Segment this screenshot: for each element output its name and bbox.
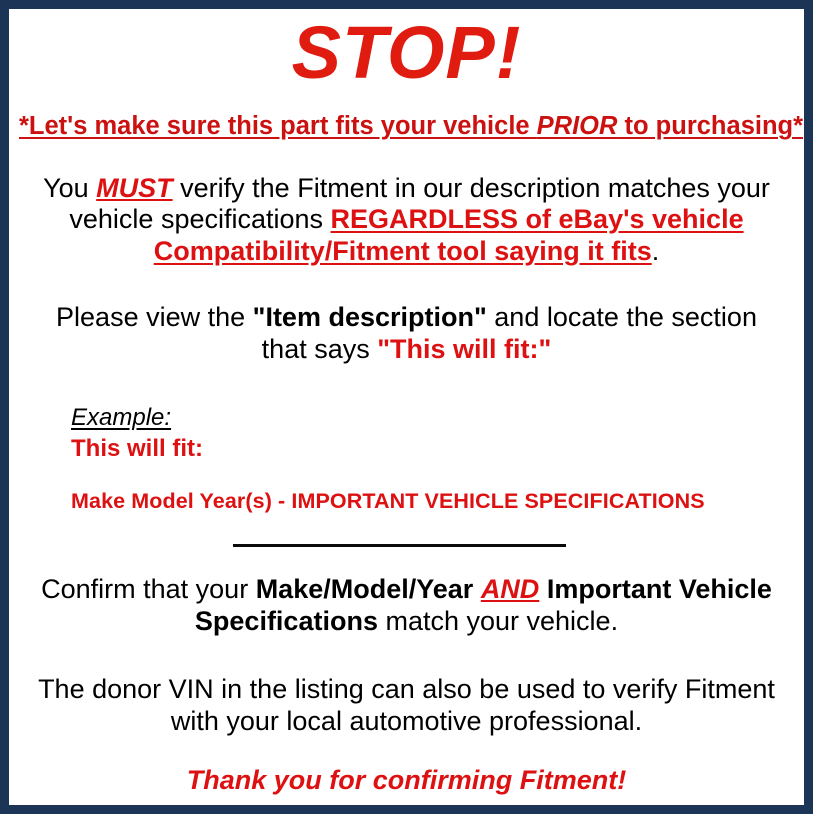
example-spec-line: Make Model Year(s) - IMPORTANT VEHICLE S…	[71, 489, 794, 515]
example-will-fit-heading: This will fit:	[71, 433, 794, 464]
confirm-paragraph: Confirm that your Make/Model/Year AND Im…	[19, 574, 794, 638]
subtitle-banner: *Let's make sure this part fits your veh…	[19, 112, 794, 140]
vin-paragraph: The donor VIN in the listing can also be…	[19, 674, 794, 738]
and-keyword: AND	[481, 574, 540, 604]
must-part1: You	[43, 173, 96, 203]
confirm-part1: Confirm that your	[41, 574, 256, 604]
item-description-quote: "Item description"	[253, 302, 487, 332]
example-block: Example: This will fit: Make Model Year(…	[19, 404, 794, 515]
confirm-part2: match your vehicle.	[378, 606, 618, 636]
notice-inner: STOP! *Let's make sure this part fits yo…	[9, 15, 804, 811]
make-model-year-bold: Make/Model/Year	[256, 574, 474, 604]
example-label: Example:	[71, 404, 794, 432]
thank-you-message: Thank you for confirming Fitment!	[19, 764, 794, 796]
this-will-fit-quote: "This will fit:"	[377, 334, 551, 364]
divider-wrapper	[19, 540, 794, 554]
must-part3: .	[652, 236, 660, 266]
subtitle-suffix: to purchasing*	[617, 112, 803, 140]
must-keyword: MUST	[96, 173, 173, 203]
subtitle-prefix: *Let's make sure this part fits your veh…	[19, 112, 537, 140]
itemdesc-part1: Please view the	[56, 302, 253, 332]
fitment-notice-card: STOP! *Let's make sure this part fits yo…	[0, 0, 813, 814]
section-divider	[233, 544, 566, 547]
confirm-space-1	[473, 574, 481, 604]
subtitle-emphasis: PRIOR	[537, 112, 618, 140]
item-description-paragraph: Please view the "Item description" and l…	[19, 302, 794, 366]
page-title: STOP!	[19, 15, 794, 90]
must-verify-paragraph: You MUST verify the Fitment in our descr…	[19, 173, 794, 269]
confirm-space-2	[539, 574, 547, 604]
